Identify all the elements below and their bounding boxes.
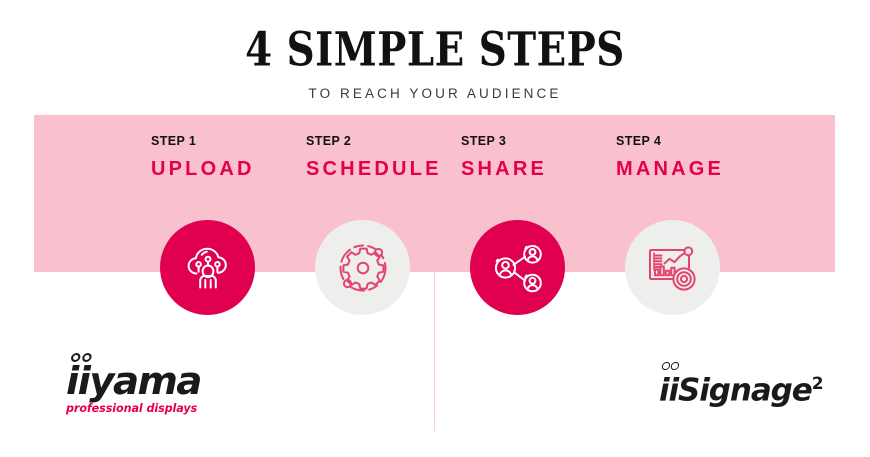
step-icon-circle[interactable]: [470, 220, 565, 315]
step-name: MANAGE: [616, 158, 798, 181]
share-network-people-icon: [489, 239, 547, 297]
iisignage-double-dot-icon: [662, 362, 688, 371]
iisignage-logo: iiSignage2: [659, 368, 859, 407]
steps-row: STEP 1 UPLOAD: [0, 115, 870, 325]
iiyama-wordmark: iiyama: [66, 362, 270, 400]
analytics-dashboard-icon: [644, 239, 702, 297]
iisignage-wordmark-text: iiSignage: [659, 372, 812, 408]
step-kicker: STEP 4: [616, 134, 798, 148]
step-icon-circle[interactable]: [315, 220, 410, 315]
step-icon-circle[interactable]: [625, 220, 720, 315]
step-icon-circle[interactable]: [160, 220, 255, 315]
iiyama-double-dot-icon: [71, 353, 102, 364]
iiyama-wordmark-text: iiyama: [66, 359, 201, 403]
cloud-upload-person-icon: [178, 238, 238, 298]
vertical-divider: [434, 272, 435, 431]
iisignage-wordmark: iiSignage2: [659, 368, 859, 407]
step-item-manage[interactable]: STEP 4 MANAGE: [608, 115, 798, 181]
page-subtitle: TO REACH YOUR AUDIENCE: [0, 86, 870, 101]
iisignage-superscript: 2: [812, 374, 824, 394]
gear-orbit-icon: [333, 238, 393, 298]
iiyama-logo: iiyama professional displays: [66, 362, 266, 415]
page-title: 4 SIMPLE STEPS: [13, 24, 857, 76]
poster-canvas: 4 SIMPLE STEPS TO REACH YOUR AUDIENCE ST…: [0, 0, 870, 457]
iiyama-tagline: professional displays: [66, 402, 266, 415]
header: 4 SIMPLE STEPS TO REACH YOUR AUDIENCE: [0, 24, 870, 101]
